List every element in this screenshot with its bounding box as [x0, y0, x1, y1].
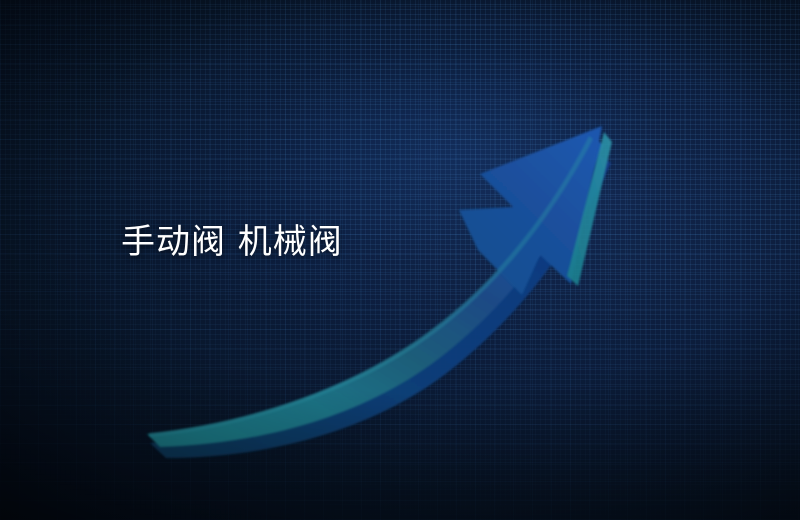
page-title: 手动阀 机械阀 [121, 222, 343, 262]
banner-canvas: 手动阀 机械阀 [0, 0, 800, 520]
background-vignette [0, 0, 800, 520]
